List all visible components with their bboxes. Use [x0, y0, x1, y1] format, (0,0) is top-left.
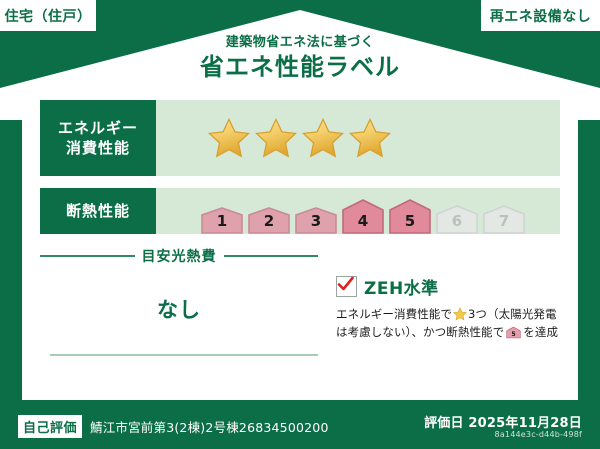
svg-text:5: 5 — [512, 331, 516, 338]
energy-performance-value — [156, 100, 560, 176]
zeh-description: エネルギー消費性能で3つ（太陽光発電は考慮しない）、かつ断熱性能で5を達成 — [336, 306, 566, 342]
star-icon — [453, 307, 467, 321]
check-icon — [336, 275, 355, 294]
energy-performance-label: エネルギー 消費性能 — [40, 100, 156, 176]
star-rating — [156, 117, 391, 159]
insulation-performance-label: 断熱性能 — [40, 188, 156, 234]
star-icon — [208, 117, 250, 159]
utility-cost-value: なし — [40, 294, 318, 324]
energy-performance-label: 住宅（住戸） 再エネ設備なし 建築物省エネ法に基づく 省エネ性能ラベル エネルギ… — [0, 0, 600, 449]
zeh-desc-part3: を達成 — [523, 325, 558, 339]
body-panel: エネルギー 消費性能 断熱性能 1234567 目安光熱費 なし — [22, 88, 578, 400]
footer: 自己評価 鯖江市宮前第3(2棟)2号棟26834500200 評価日 2025年… — [0, 404, 600, 449]
utility-cost-heading-text: 目安光熱費 — [142, 246, 217, 266]
insulation-grade-2: 2 — [247, 206, 291, 234]
grade-number: 4 — [341, 212, 385, 230]
insulation-performance-value: 1234567 — [156, 188, 560, 234]
insulation-label-text: 断熱性能 — [66, 201, 130, 221]
insulation-grade-5: 5 — [388, 198, 432, 234]
rule-right — [224, 255, 319, 257]
document-hash: 8a144e3c-d44b-498f — [495, 430, 582, 439]
energy-label-line1: エネルギー — [58, 118, 138, 138]
rule-left — [40, 255, 135, 257]
grade-number: 6 — [435, 212, 479, 230]
grade-number: 3 — [294, 212, 338, 230]
utility-cost-block: 目安光熱費 なし — [40, 246, 318, 324]
grade-number: 5 — [388, 212, 432, 230]
star-icon — [255, 117, 297, 159]
grade-number: 2 — [247, 212, 291, 230]
building-type-tag: 住宅（住戸） — [0, 0, 96, 31]
insulation-grade-scale: 1234567 — [156, 188, 526, 234]
insulation-grade-3: 3 — [294, 206, 338, 234]
title-subtitle: 建築物省エネ法に基づく — [0, 36, 600, 50]
insulation-grade-7: 7 — [482, 204, 526, 234]
zeh-heading: ZEH水準 — [336, 274, 566, 299]
insulation-grade-4: 4 — [341, 198, 385, 234]
zeh-checkbox[interactable] — [336, 276, 357, 297]
star-icon — [349, 117, 391, 159]
zeh-block: ZEH水準 エネルギー消費性能で3つ（太陽光発電は考慮しない）、かつ断熱性能で5… — [336, 274, 566, 342]
utility-cost-divider — [50, 354, 318, 356]
insulation-grade-6: 6 — [435, 204, 479, 234]
evaluation-date: 評価日 2025年11月28日 — [424, 412, 582, 431]
self-evaluation-badge: 自己評価 — [18, 415, 82, 438]
page-title: 省エネ性能ラベル — [0, 52, 600, 82]
energy-label-line2: 消費性能 — [66, 138, 130, 158]
property-address: 鯖江市宮前第3(2棟)2号棟26834500200 — [90, 417, 329, 436]
star-icon — [302, 117, 344, 159]
renewable-energy-tag: 再エネ設備なし — [481, 0, 600, 31]
zeh-title: ZEH水準 — [364, 274, 439, 299]
zeh-desc-part1: エネルギー消費性能で — [336, 307, 452, 321]
title-block: 建築物省エネ法に基づく 省エネ性能ラベル — [0, 36, 600, 82]
insulation-grade-1: 1 — [200, 206, 244, 234]
insulation-performance-row: 断熱性能 1234567 — [40, 188, 560, 234]
energy-performance-row: エネルギー 消費性能 — [40, 100, 560, 176]
grade-badge-icon: 5 — [506, 325, 521, 340]
utility-cost-heading: 目安光熱費 — [40, 246, 318, 266]
grade-number: 1 — [200, 212, 244, 230]
grade-number: 7 — [482, 212, 526, 230]
